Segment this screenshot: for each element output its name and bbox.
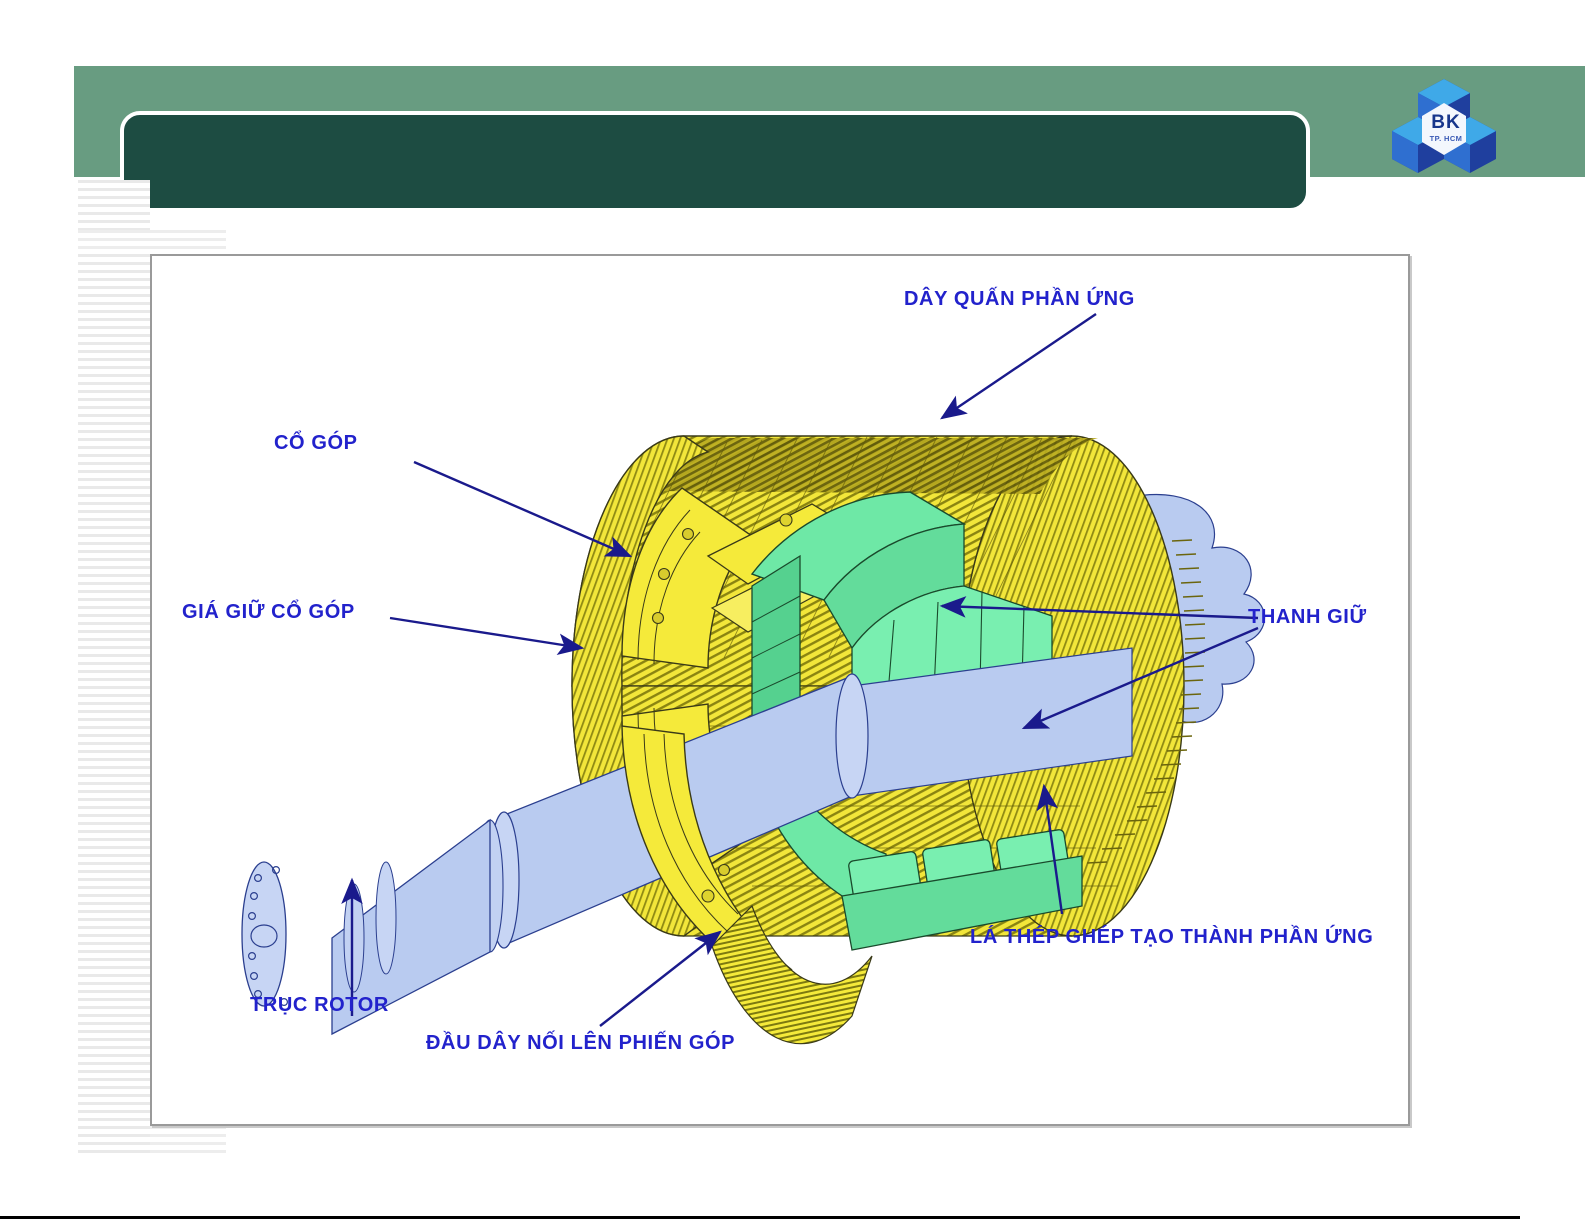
shaft-middle-end [836,674,868,798]
rotor-diagram: DÂY QUẤN PHẦN ỨNG CỔ GÓP GIÁ GIỮ CỔ GÓP … [152,256,1408,1124]
shaft-collar-3 [376,862,396,974]
leader-leads [600,932,720,1026]
leader-winding [942,314,1096,418]
slide-title-box [120,111,1310,212]
callout-label-lamination: LÁ THÉP GHÉP TẠO THÀNH PHẦN ỨNG [970,926,1373,949]
core-shadow-band [652,438,1098,494]
callout-label-commutator: CỔ GÓP [274,432,358,455]
leader-commutator [414,462,630,556]
decor-stripes-main [78,254,150,1154]
shaft-end-face [242,862,286,1006]
decor-stripes-upper-wide [78,230,226,256]
callout-label-shaft: TRỤC ROTOR [250,994,389,1017]
slide-title [124,115,1306,143]
shaft-collar-4 [344,884,364,992]
logo-subtext: TP. HCM [1418,133,1474,145]
logo-bk-text: BK [1426,113,1466,133]
front-bell-bolt [702,890,714,902]
bk-hcmut-logo: BK TP. HCM [1388,73,1500,173]
figure-frame: DÂY QUẤN PHẦN ỨNG CỔ GÓP GIÁ GIỮ CỔ GÓP … [150,254,1410,1126]
footer-rule [0,1216,1520,1219]
callout-label-leads: ĐẦU DÂY NỐI LÊN PHIẾN GÓP [426,1032,735,1055]
callout-label-winding: DÂY QUẤN PHẦN ỨNG [904,288,1135,311]
callout-label-bar: THANH GIỮ [1248,606,1367,629]
callout-label-holder: GIÁ GIỮ CỔ GÓP [182,601,355,624]
leader-holder [390,618,582,648]
